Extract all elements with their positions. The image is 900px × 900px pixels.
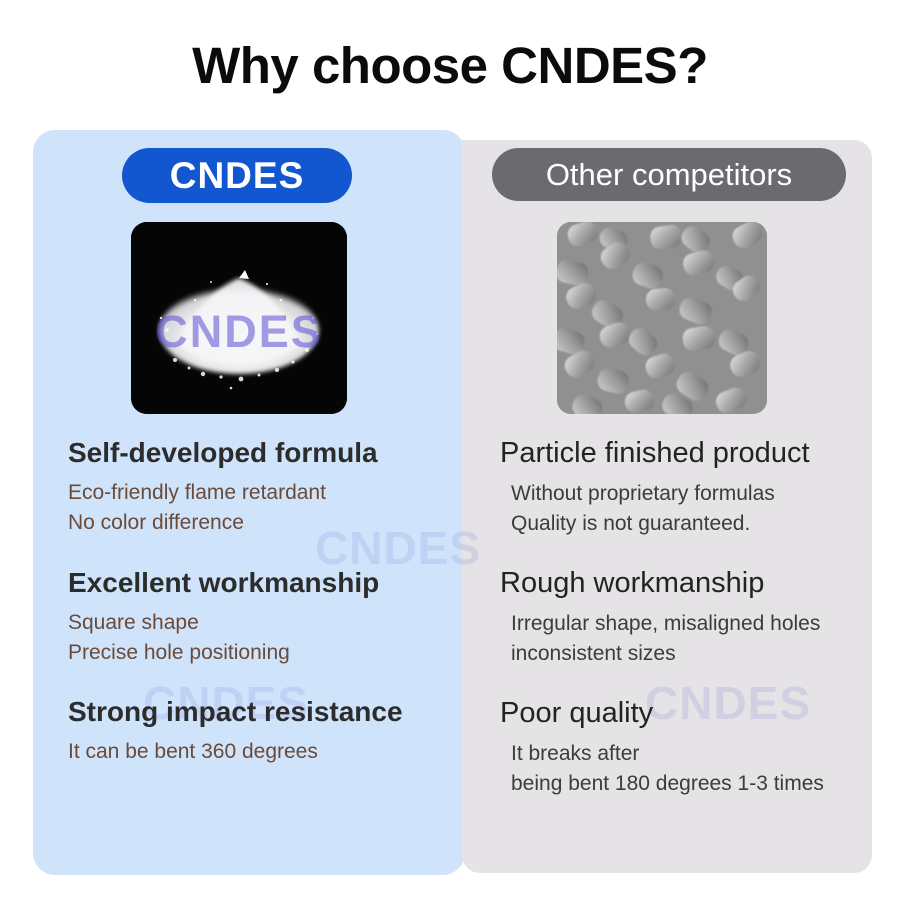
feature-line: It breaks after: [500, 739, 872, 769]
feature-item: Excellent workmanship Square shape Preci…: [68, 566, 458, 668]
badge-other-competitors: Other competitors: [492, 148, 846, 201]
feature-line: No color difference: [68, 508, 458, 538]
feature-line: Square shape: [68, 608, 458, 638]
feature-list-competitors: Particle finished product Without propri…: [500, 436, 872, 826]
feature-item: Self-developed formula Eco-friendly flam…: [68, 436, 458, 538]
product-image-cndes: CNDES: [131, 222, 347, 414]
feature-heading: Poor quality: [500, 696, 872, 730]
badge-cndes: CNDES: [122, 148, 352, 203]
comparison-infographic: CNDES CNDES CNDES Why choose CNDES? CNDE…: [0, 0, 900, 900]
feature-line: Eco-friendly flame retardant: [68, 478, 458, 508]
feature-heading: Excellent workmanship: [68, 566, 458, 599]
feature-line: being bent 180 degrees 1-3 times: [500, 769, 872, 799]
feature-line: Precise hole positioning: [68, 638, 458, 668]
page-title: Why choose CNDES?: [0, 36, 900, 95]
feature-heading: Particle finished product: [500, 436, 872, 470]
feature-line: Quality is not guaranteed.: [500, 509, 872, 539]
feature-line: inconsistent sizes: [500, 639, 872, 669]
feature-list-cndes: Self-developed formula Eco-friendly flam…: [68, 436, 458, 795]
powder-illustration: [131, 222, 347, 414]
feature-line: It can be bent 360 degrees: [68, 737, 458, 767]
product-image-competitor: [557, 222, 767, 414]
feature-line: Without proprietary formulas: [500, 479, 872, 509]
feature-item: Particle finished product Without propri…: [500, 436, 872, 539]
feature-line: Irregular shape, misaligned holes: [500, 609, 872, 639]
badge-other-label: Other competitors: [546, 157, 792, 193]
feature-item: Rough workmanship Irregular shape, misal…: [500, 566, 872, 669]
feature-item: Poor quality It breaks after being bent …: [500, 696, 872, 799]
feature-heading: Strong impact resistance: [68, 695, 458, 728]
feature-heading: Rough workmanship: [500, 566, 872, 600]
feature-heading: Self-developed formula: [68, 436, 458, 469]
badge-cndes-label: CNDES: [170, 155, 305, 197]
pellets-illustration: [557, 222, 767, 414]
feature-item: Strong impact resistance It can be bent …: [68, 695, 458, 767]
